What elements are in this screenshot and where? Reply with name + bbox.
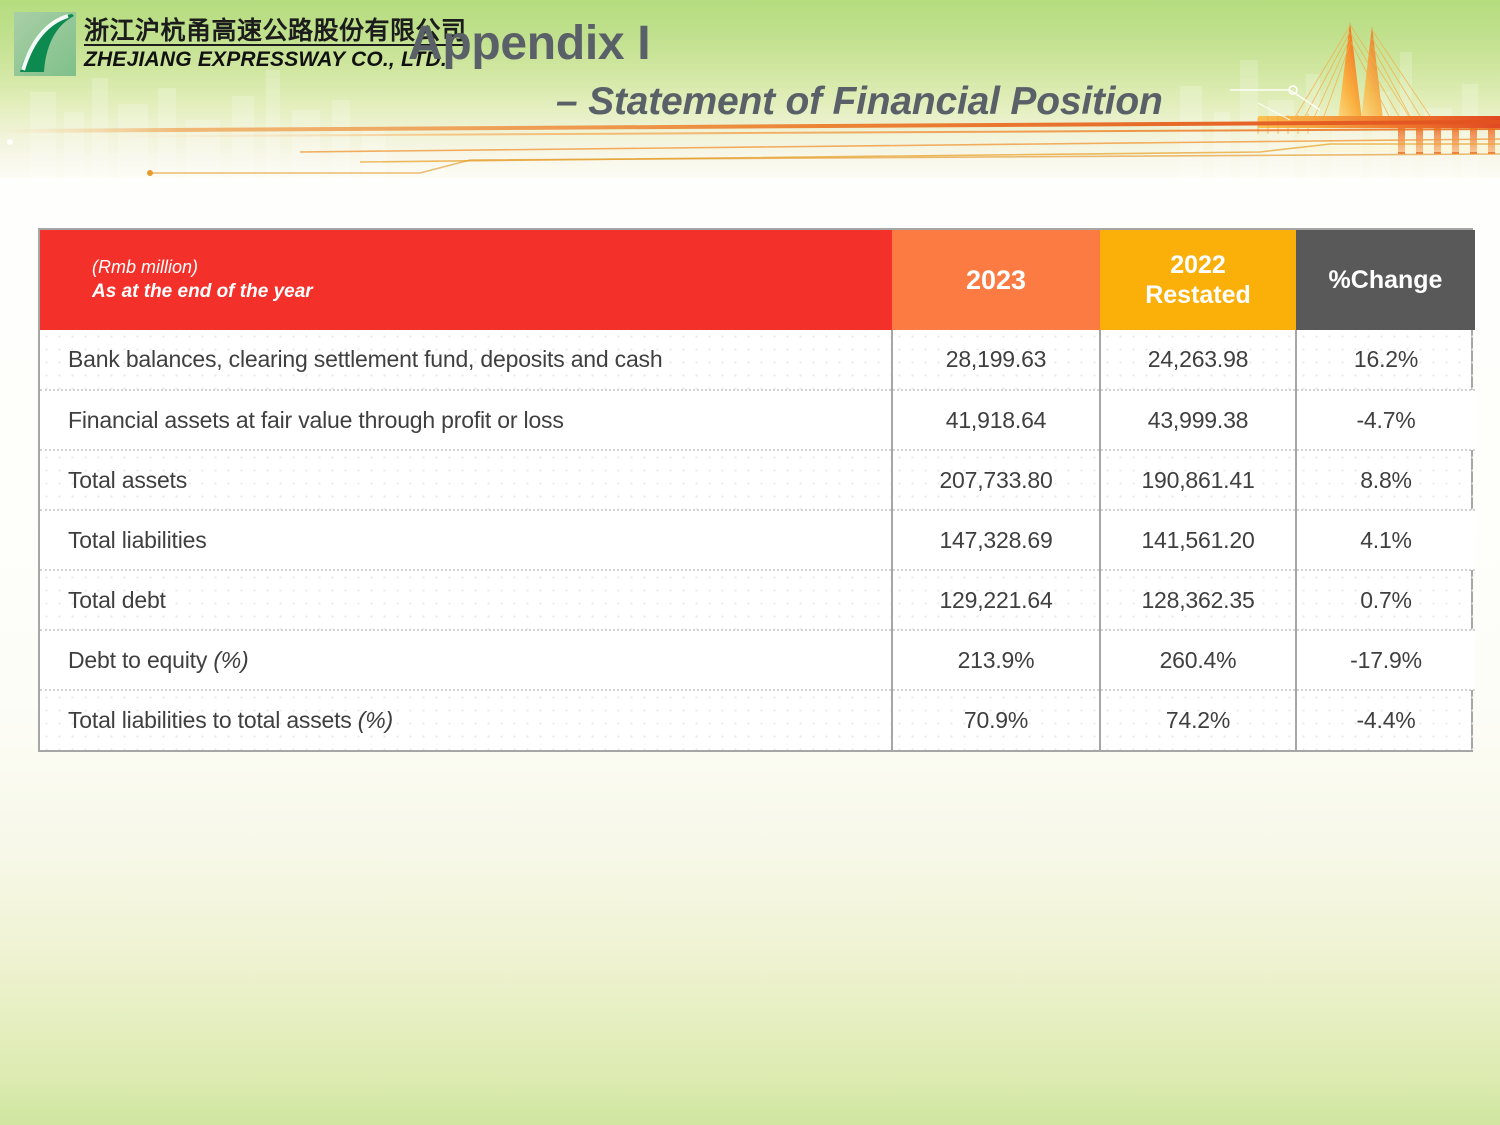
row-label-unit: (%) — [358, 707, 393, 733]
financial-position-table: (Rmb million) As at the end of the year … — [38, 228, 1473, 752]
cell-value-change: 0.7% — [1296, 570, 1475, 630]
cell-value-2022: 74.2% — [1100, 690, 1296, 750]
cell-value-change: 16.2% — [1296, 330, 1475, 390]
cell-value-2022: 260.4% — [1100, 630, 1296, 690]
company-logo: 浙江沪杭甬高速公路股份有限公司 ZHEJIANG EXPRESSWAY CO.,… — [14, 12, 467, 76]
row-label-unit: (%) — [213, 647, 248, 673]
cell-value-change: 8.8% — [1296, 450, 1475, 510]
table-header: (Rmb million) As at the end of the year … — [40, 230, 1475, 330]
column-header-label: (Rmb million) As at the end of the year — [40, 230, 892, 330]
cell-value-2023: 213.9% — [892, 630, 1100, 690]
column-header-2022: 2022 Restated — [1100, 230, 1296, 330]
cell-value-2023: 28,199.63 — [892, 330, 1100, 390]
slide-canvas: 浙江沪杭甬高速公路股份有限公司 ZHEJIANG EXPRESSWAY CO.,… — [0, 0, 1500, 1125]
column-header-2022-restated: Restated — [1100, 280, 1296, 311]
page-subtitle: – Statement of Financial Position — [556, 80, 1163, 124]
cell-value-2022: 24,263.98 — [1100, 330, 1296, 390]
row-label: Bank balances, clearing settlement fund,… — [40, 330, 892, 390]
cell-value-2023: 147,328.69 — [892, 510, 1100, 570]
column-header-2022-year: 2022 — [1100, 250, 1296, 281]
row-label: Financial assets at fair value through p… — [40, 390, 892, 450]
table-row: Bank balances, clearing settlement fund,… — [40, 330, 1475, 390]
table-row: Total assets207,733.80190,861.418.8% — [40, 450, 1475, 510]
table-row: Debt to equity (%)213.9%260.4%-17.9% — [40, 630, 1475, 690]
row-label: Total assets — [40, 450, 892, 510]
row-label: Total debt — [40, 570, 892, 630]
unit-note: (Rmb million) — [92, 255, 892, 279]
statement-table: (Rmb million) As at the end of the year … — [40, 230, 1475, 750]
cell-value-2022: 43,999.38 — [1100, 390, 1296, 450]
cell-value-2023: 41,918.64 — [892, 390, 1100, 450]
cell-value-change: -4.7% — [1296, 390, 1475, 450]
cell-value-change: -17.9% — [1296, 630, 1475, 690]
cell-value-change: 4.1% — [1296, 510, 1475, 570]
cell-value-2023: 207,733.80 — [892, 450, 1100, 510]
period-note: As at the end of the year — [92, 279, 892, 305]
table-row: Total debt129,221.64128,362.350.7% — [40, 570, 1475, 630]
cell-value-2023: 70.9% — [892, 690, 1100, 750]
table-header-row: (Rmb million) As at the end of the year … — [40, 230, 1475, 330]
cell-value-2022: 190,861.41 — [1100, 450, 1296, 510]
cell-value-2022: 128,362.35 — [1100, 570, 1296, 630]
cell-value-change: -4.4% — [1296, 690, 1475, 750]
row-label: Total liabilities — [40, 510, 892, 570]
row-label: Total liabilities to total assets (%) — [40, 690, 892, 750]
zhejiang-expressway-logo-icon — [14, 12, 76, 76]
column-header-change: %Change — [1296, 230, 1475, 330]
table-row: Total liabilities to total assets (%)70.… — [40, 690, 1475, 750]
table-row: Total liabilities147,328.69141,561.204.1… — [40, 510, 1475, 570]
table-row: Financial assets at fair value through p… — [40, 390, 1475, 450]
column-header-2023: 2023 — [892, 230, 1100, 330]
cell-value-2023: 129,221.64 — [892, 570, 1100, 630]
page-title: Appendix I — [408, 16, 650, 71]
row-label: Debt to equity (%) — [40, 630, 892, 690]
table-body: Bank balances, clearing settlement fund,… — [40, 330, 1475, 750]
cell-value-2022: 141,561.20 — [1100, 510, 1296, 570]
